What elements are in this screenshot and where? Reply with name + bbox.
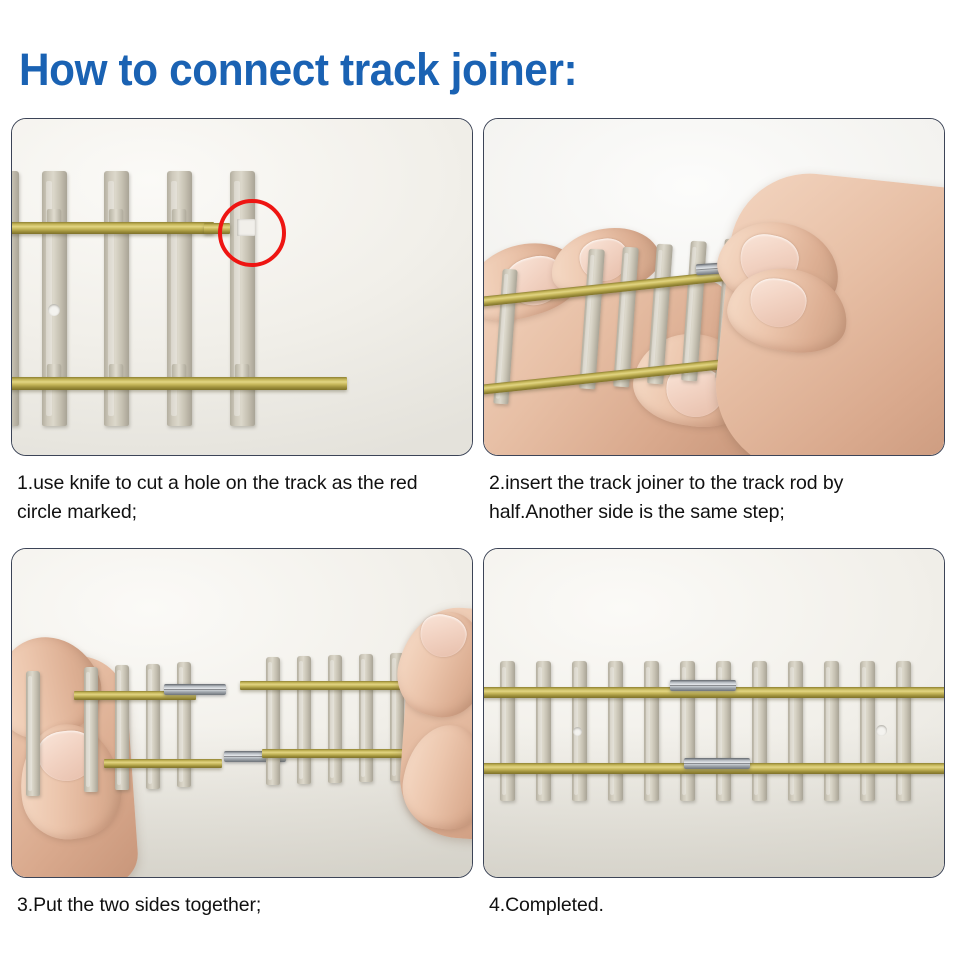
sleeper <box>860 661 875 801</box>
step-4: 4.Completed. <box>483 548 947 920</box>
rail-lower <box>12 377 347 390</box>
step-1-photo-stage <box>12 119 472 455</box>
step-1-photo <box>11 118 473 456</box>
sleeper <box>500 661 515 801</box>
sleeper <box>266 657 280 785</box>
sleeper <box>608 661 623 801</box>
rail-lower-left <box>104 759 222 768</box>
sleeper <box>824 661 839 801</box>
step-4-photo-stage <box>484 549 944 877</box>
sleeper <box>359 654 373 782</box>
step-1-caption: 1.use knife to cut a hole on the track a… <box>11 469 461 527</box>
sleeper <box>115 665 129 790</box>
step-1: 1.use knife to cut a hole on the track a… <box>11 118 475 527</box>
sleeper <box>26 671 40 796</box>
steps-grid: 1.use knife to cut a hole on the track a… <box>0 112 960 942</box>
photo-shadow <box>484 726 944 877</box>
sleeper <box>644 661 659 801</box>
step-3: 3.Put the two sides together; <box>11 548 475 920</box>
track-joiner-upper <box>670 680 736 691</box>
step-2-photo <box>483 118 945 456</box>
step-3-caption: 3.Put the two sides together; <box>11 891 461 920</box>
step-2-caption: 2.insert the track joiner to the track r… <box>483 469 933 527</box>
sleeper <box>536 661 551 801</box>
sleeper <box>752 661 767 801</box>
track-joiner-upper <box>164 684 226 695</box>
spike-hole <box>876 725 887 736</box>
step-2: 2.insert the track joiner to the track r… <box>483 118 947 527</box>
page-title: How to connect track joiner: <box>19 44 577 96</box>
step-4-photo <box>483 548 945 878</box>
red-circle-annotation <box>218 199 286 267</box>
sleeper <box>177 662 191 787</box>
spike-hole <box>48 304 60 316</box>
sleeper <box>896 661 911 801</box>
sleeper <box>146 664 160 789</box>
spike-hole <box>573 727 582 736</box>
track-joiner-lower <box>684 758 750 769</box>
sleeper <box>788 661 803 801</box>
step-3-photo <box>11 548 473 878</box>
sleeper <box>297 656 311 784</box>
step-4-caption: 4.Completed. <box>483 891 933 920</box>
sleeper <box>84 667 98 792</box>
step-3-photo-stage <box>12 549 472 877</box>
rail-upper <box>12 222 214 234</box>
step-2-photo-stage <box>484 119 944 455</box>
sleeper <box>328 655 342 783</box>
